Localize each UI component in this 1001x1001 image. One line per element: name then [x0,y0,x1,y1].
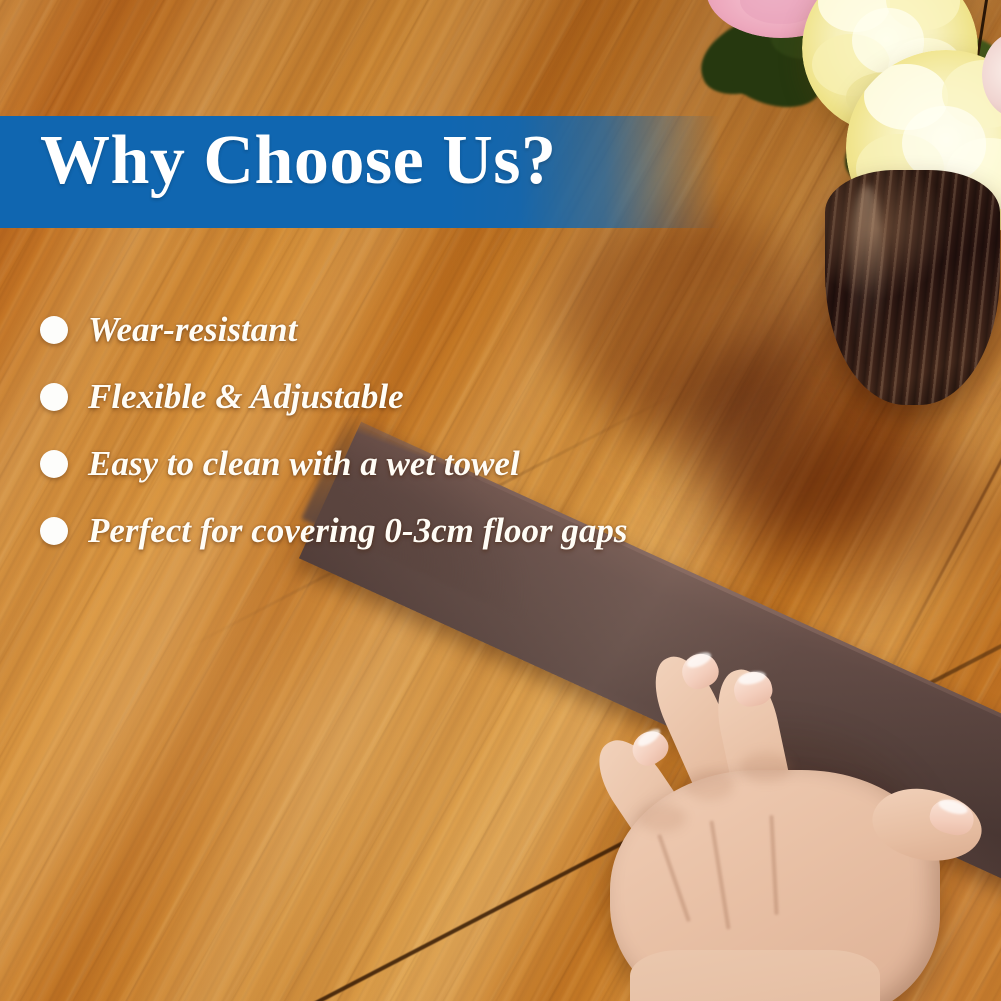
list-item: Wear-resistant [0,296,760,363]
bullet-dot-icon [40,316,68,344]
knuckle-shading [638,804,686,832]
feature-label: Easy to clean with a wet towel [88,446,520,481]
list-item: Perfect for covering 0-3cm floor gaps [0,497,760,564]
feature-label: Flexible & Adjustable [88,379,404,414]
knuckle-shading [740,752,792,782]
product-infographic: Why Choose Us? Wear-resistant Flexible &… [0,0,1001,1001]
hand-pressing-strip [600,620,1001,1001]
vase-highlight [850,185,884,365]
bullet-dot-icon [40,383,68,411]
knuckle-shading [684,770,734,800]
list-item: Easy to clean with a wet towel [0,430,760,497]
bullet-dot-icon [40,517,68,545]
feature-label: Perfect for covering 0-3cm floor gaps [88,513,627,548]
bullet-dot-icon [40,450,68,478]
wrist [630,950,880,1001]
feature-label: Wear-resistant [88,312,297,347]
page-title: Why Choose Us? [40,126,557,196]
list-item: Flexible & Adjustable [0,363,760,430]
feature-list: Wear-resistant Flexible & Adjustable Eas… [0,296,760,564]
